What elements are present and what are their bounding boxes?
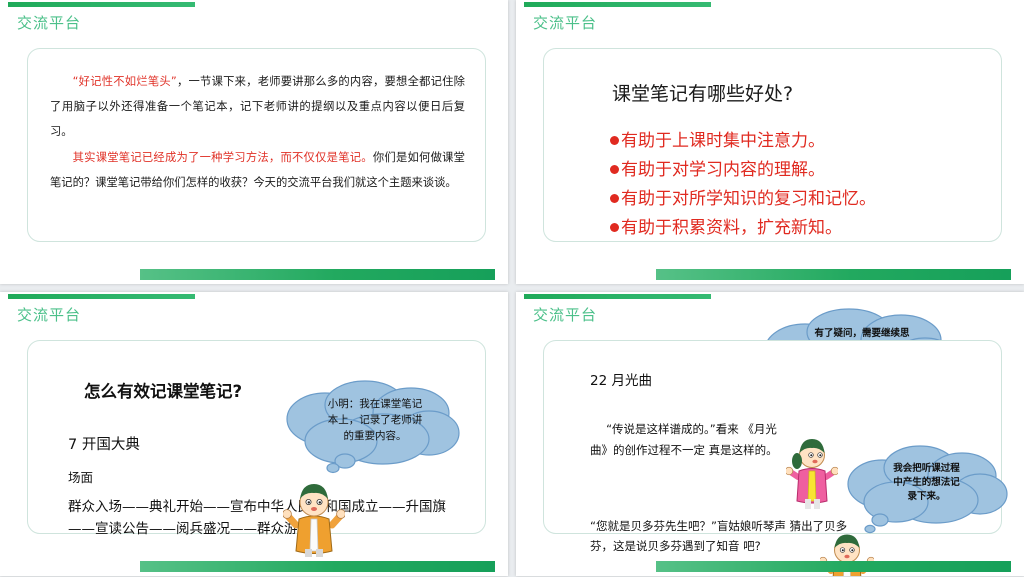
- bullet-dot-icon: [610, 136, 619, 145]
- list-item-label: 有助于上课时集中注意力。: [621, 131, 825, 151]
- slide-title: 交流平台: [533, 12, 597, 33]
- benefits-list: 有助于上课时集中注意力。 有助于对学习内容的理解。 有助于对所学知识的复习和记忆…: [610, 127, 876, 243]
- slide-title: 交流平台: [17, 304, 81, 325]
- bullet-dot-icon: [610, 165, 619, 174]
- bottom-accent-bar: [656, 561, 1011, 572]
- slide-1[interactable]: 交流平台 “好记性不如烂笔头”，一节课下来，老师要讲那么多的内容，要想全都记住除…: [0, 0, 508, 284]
- cloud-shape-icon: [283, 379, 463, 469]
- paragraph-line: 吧?: [743, 539, 761, 553]
- bottom-accent-bar: [656, 269, 1011, 280]
- top-accent-bar: [8, 294, 195, 299]
- bottom-accent-bar: [140, 269, 495, 280]
- list-item-label: 有助于对所学知识的复习和记忆。: [621, 189, 876, 209]
- paragraph-line: “您就是贝多芬先生吧？”盲姑娘听琴声: [590, 519, 786, 533]
- bullet-dot-icon: [610, 223, 619, 232]
- slide2-heading: 课堂笔记有哪些好处?: [612, 79, 793, 106]
- list-item: 有助于对学习内容的理解。: [610, 156, 876, 185]
- list-item: 有助于对所学知识的复习和记忆。: [610, 185, 876, 214]
- bottom-accent-bar: [140, 561, 495, 572]
- slide1-body: “好记性不如烂笔头”，一节课下来，老师要讲那么多的内容，要想全都记住除了用脑子以…: [50, 69, 465, 196]
- lesson-title: 22 月光曲: [590, 369, 652, 389]
- slide-2[interactable]: 交流平台 课堂笔记有哪些好处? 有助于上课时集中注意力。 有助于对学习内容的理解…: [516, 0, 1024, 284]
- content-box: “好记性不如烂笔头”，一节课下来，老师要讲那么多的内容，要想全都记住除了用脑子以…: [27, 48, 486, 242]
- slide-title: 交流平台: [533, 304, 597, 325]
- highlight-quote: “好记性不如烂笔头”: [73, 75, 177, 88]
- bullet-dot-icon: [610, 194, 619, 203]
- content-box: 22 月光曲 “传说是这样谱成的。”看来 《月光曲》的创作过程不一定 真是这样的…: [543, 340, 1002, 534]
- girl-figure: [786, 433, 838, 509]
- thought-cloud-xiaoming: 小明：我在课堂笔记 本上，记录了老师讲 的重要内容。: [283, 379, 463, 469]
- top-accent-bar: [524, 294, 711, 299]
- girl-illustration-icon: [786, 433, 838, 509]
- boy-figure: [283, 481, 345, 557]
- list-item: 有助于积累资料，扩充新知。: [610, 214, 876, 243]
- paragraph-1: “好记性不如烂笔头”，一节课下来，老师要讲那么多的内容，要想全都记住除了用脑子以…: [50, 69, 465, 144]
- paragraph-line: 真是这样的。: [709, 443, 778, 457]
- cloud-shape-icon: [844, 444, 1009, 530]
- slide3-heading: 怎么有效记课堂笔记?: [84, 378, 242, 402]
- list-item: 有助于上课时集中注意力。: [610, 127, 876, 156]
- slide-4[interactable]: 交流平台 有了疑问，需要继续思 考，或者查找资料的， 我会认真记下来。: [516, 292, 1024, 576]
- sequence-text: 群众入场——典礼开始——宣布中华人民共和国成立——升国旗——宣读公告——阅兵盛况…: [68, 496, 469, 540]
- boy-illustration-icon: [283, 481, 345, 557]
- lesson-title: 7 开国大典: [68, 433, 140, 454]
- paragraph-2: “您就是贝多芬先生吧？”盲姑娘听琴声 猜出了贝多芬，这是说贝多芬遇到了知音 吧?: [590, 516, 852, 556]
- paragraph-2: 其实课堂笔记已经成为了一种学习方法，而不仅仅是笔记。你们是如何做课堂笔记的？课堂…: [50, 145, 465, 195]
- slide-title: 交流平台: [17, 12, 81, 33]
- section-label: 场面: [68, 467, 93, 486]
- content-box: 怎么有效记课堂笔记? 7 开国大典 场面 群众入场——典礼开始——宣布中华人民共…: [27, 340, 486, 534]
- paragraph-1: “传说是这样谱成的。”看来 《月光曲》的创作过程不一定 真是这样的。: [590, 419, 790, 461]
- slide-3[interactable]: 交流平台 怎么有效记课堂笔记? 7 开国大典 场面 群众入场——典礼开始——宣布…: [0, 292, 508, 576]
- highlight-statement: 其实课堂笔记已经成为了一种学习方法，而不仅仅是笔记。: [73, 151, 373, 164]
- thought-cloud-record: 我会把听课过程 中产生的想法记 录下来。: [844, 444, 1009, 530]
- content-box: 课堂笔记有哪些好处? 有助于上课时集中注意力。 有助于对学习内容的理解。 有助于…: [543, 48, 1002, 242]
- paragraph-line: “传说是这样谱成的。”看来: [590, 419, 739, 440]
- list-item-label: 有助于对学习内容的理解。: [621, 160, 825, 180]
- list-item-label: 有助于积累资料，扩充新知。: [621, 218, 842, 238]
- top-accent-bar: [524, 2, 711, 7]
- top-accent-bar: [8, 2, 195, 7]
- slide-deck: 交流平台 “好记性不如烂笔头”，一节课下来，老师要讲那么多的内容，要想全都记住除…: [0, 0, 1024, 577]
